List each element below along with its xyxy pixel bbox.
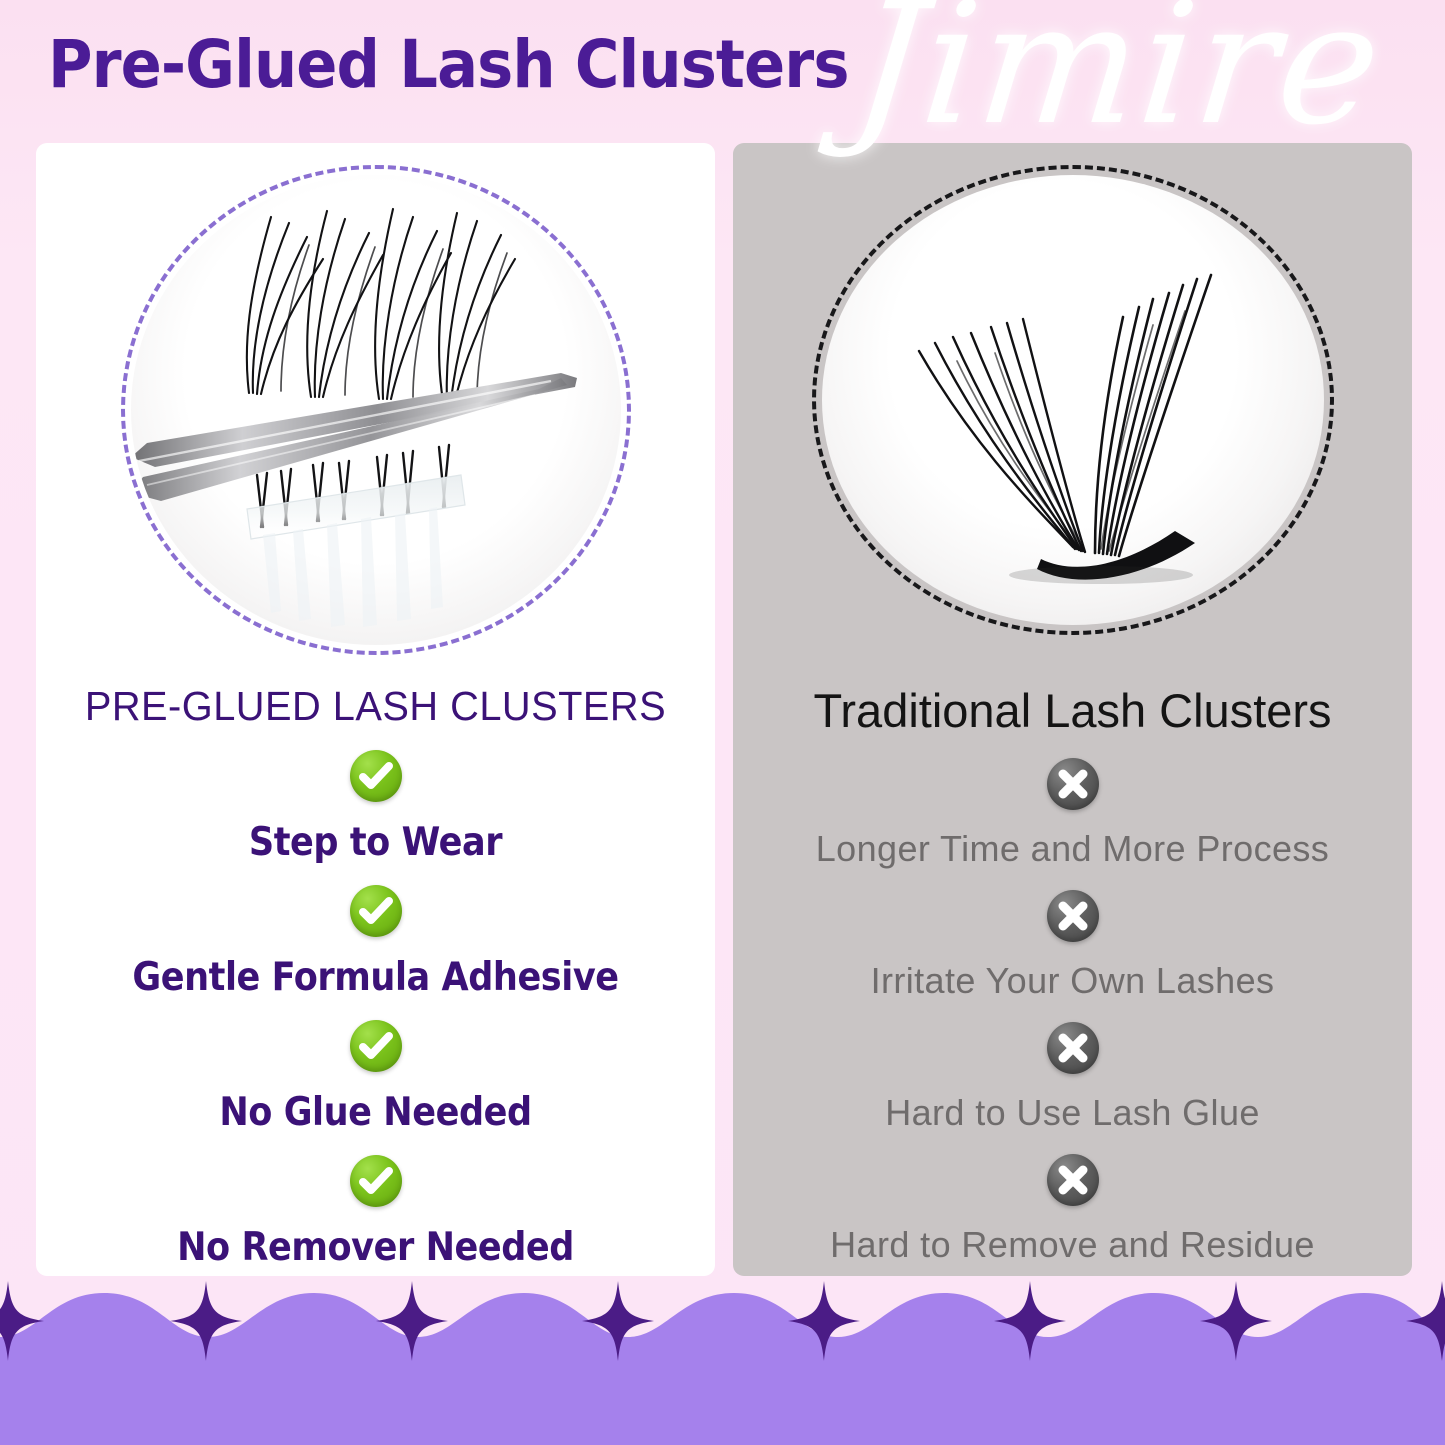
- cross-icon: [1047, 758, 1099, 810]
- right-item-label: Longer Time and More Process: [733, 828, 1412, 870]
- infographic-page: Pre-Glued Lash Clusters Jimire: [0, 0, 1445, 1445]
- left-feature-list: PRE-GLUED LASH CLUSTERS Step to Wear Gen…: [36, 683, 715, 1270]
- left-comparison-card: PRE-GLUED LASH CLUSTERS Step to Wear Gen…: [36, 143, 715, 1276]
- left-item-label: No Remover Needed: [70, 1225, 681, 1270]
- pre-glued-lash-photo: [121, 165, 631, 655]
- right-item-label: Hard to Remove and Residue: [733, 1224, 1412, 1266]
- footer-wave-decoration: [0, 1275, 1445, 1445]
- right-item-label: Irritate Your Own Lashes: [733, 960, 1412, 1002]
- brand-logo-script: Jimire: [845, 0, 1391, 162]
- right-drawback-list: Traditional Lash Clusters Longer Time an…: [733, 683, 1412, 1266]
- right-comparison-card: Traditional Lash Clusters Longer Time an…: [733, 143, 1412, 1276]
- left-item-label: Gentle Formula Adhesive: [70, 955, 681, 1000]
- right-list-heading: Traditional Lash Clusters: [733, 683, 1412, 738]
- cross-icon: [1047, 1022, 1099, 1074]
- dashed-circle-border: [121, 165, 631, 655]
- left-item-label: No Glue Needed: [70, 1090, 681, 1135]
- left-item-label: Step to Wear: [70, 820, 681, 865]
- traditional-lash-photo: [812, 165, 1334, 635]
- cross-icon: [1047, 1154, 1099, 1206]
- check-icon: [350, 1020, 402, 1072]
- right-item-label: Hard to Use Lash Glue: [733, 1092, 1412, 1134]
- page-title: Pre-Glued Lash Clusters: [48, 26, 849, 103]
- check-icon: [350, 1155, 402, 1207]
- left-list-heading: PRE-GLUED LASH CLUSTERS: [46, 683, 705, 730]
- cross-icon: [1047, 890, 1099, 942]
- check-icon: [350, 750, 402, 802]
- wave-band: [0, 1275, 1445, 1445]
- check-icon: [350, 885, 402, 937]
- dashed-circle-border: [812, 165, 1334, 635]
